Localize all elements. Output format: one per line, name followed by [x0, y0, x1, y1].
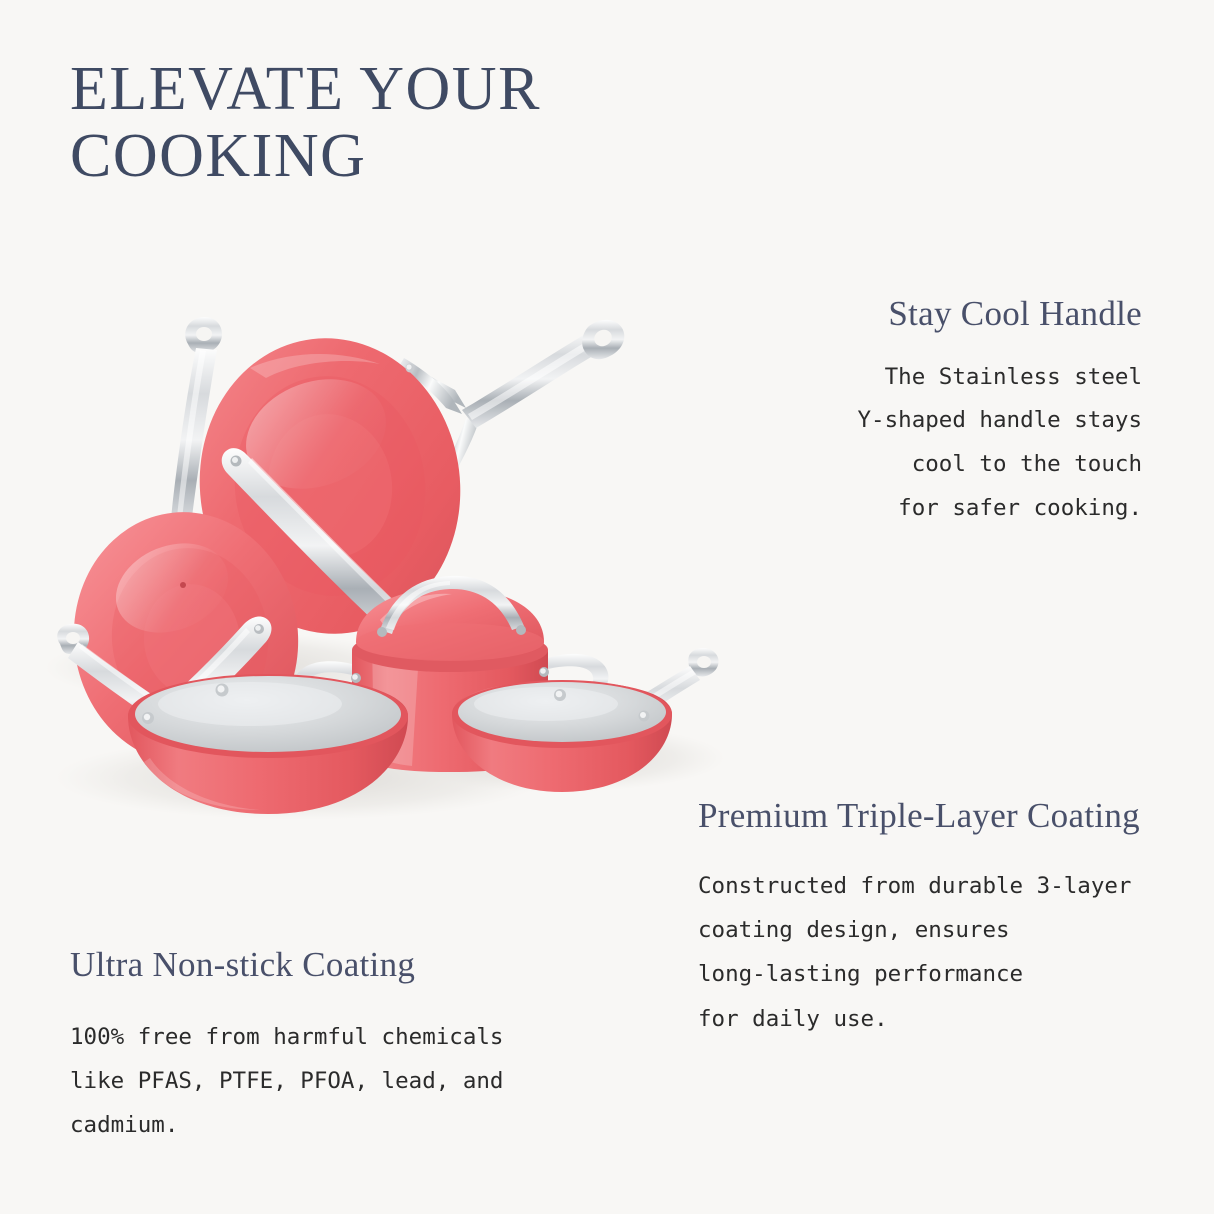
infographic-page: ELEVATE YOUR COOKING — [0, 0, 1214, 1214]
body-line: cadmium. — [70, 1103, 600, 1147]
rivet — [377, 627, 387, 637]
body-line: coating design, ensures — [698, 908, 1198, 952]
body-line: cool to the touch — [742, 443, 1142, 487]
body-line: long-lasting performance — [698, 952, 1198, 996]
product-image — [0, 238, 740, 848]
body-line: like PFAS, PTFE, PFOA, lead, and — [70, 1059, 600, 1103]
vent-hole — [180, 582, 186, 588]
body-line: 100% free from harmful chemicals — [70, 1015, 600, 1059]
feature-body-stay-cool-handle: The Stainless steel Y-shaped handle stay… — [730, 356, 1142, 532]
body-line: for safer cooking. — [742, 487, 1142, 531]
body-line: Y-shaped handle stays — [742, 399, 1142, 443]
feature-block-ultra-non-stick-coating: Ultra Non-stick Coating 100% free from h… — [70, 945, 600, 1148]
feature-body-ultra-non-stick-coating: 100% free from harmful chemicals like PF… — [70, 1015, 600, 1147]
feature-block-stay-cool-handle: Stay Cool Handle The Stainless steel Y-s… — [730, 295, 1142, 531]
feature-heading-stay-cool-handle: Stay Cool Handle — [730, 295, 1142, 334]
feature-body-premium-triple-layer-coating: Constructed from durable 3-layer coating… — [698, 864, 1198, 1040]
feature-heading-premium-triple-layer-coating: Premium Triple-Layer Coating — [698, 795, 1198, 836]
page-title: ELEVATE YOUR COOKING — [70, 56, 770, 190]
feature-heading-ultra-non-stick-coating: Ultra Non-stick Coating — [70, 945, 600, 985]
feature-block-premium-triple-layer-coating: Premium Triple-Layer Coating Constructed… — [698, 795, 1198, 1041]
body-line: The Stainless steel — [742, 356, 1142, 400]
body-line: for daily use. — [698, 997, 1198, 1041]
body-line: Constructed from durable 3-layer — [698, 864, 1198, 908]
rivet — [516, 625, 526, 635]
